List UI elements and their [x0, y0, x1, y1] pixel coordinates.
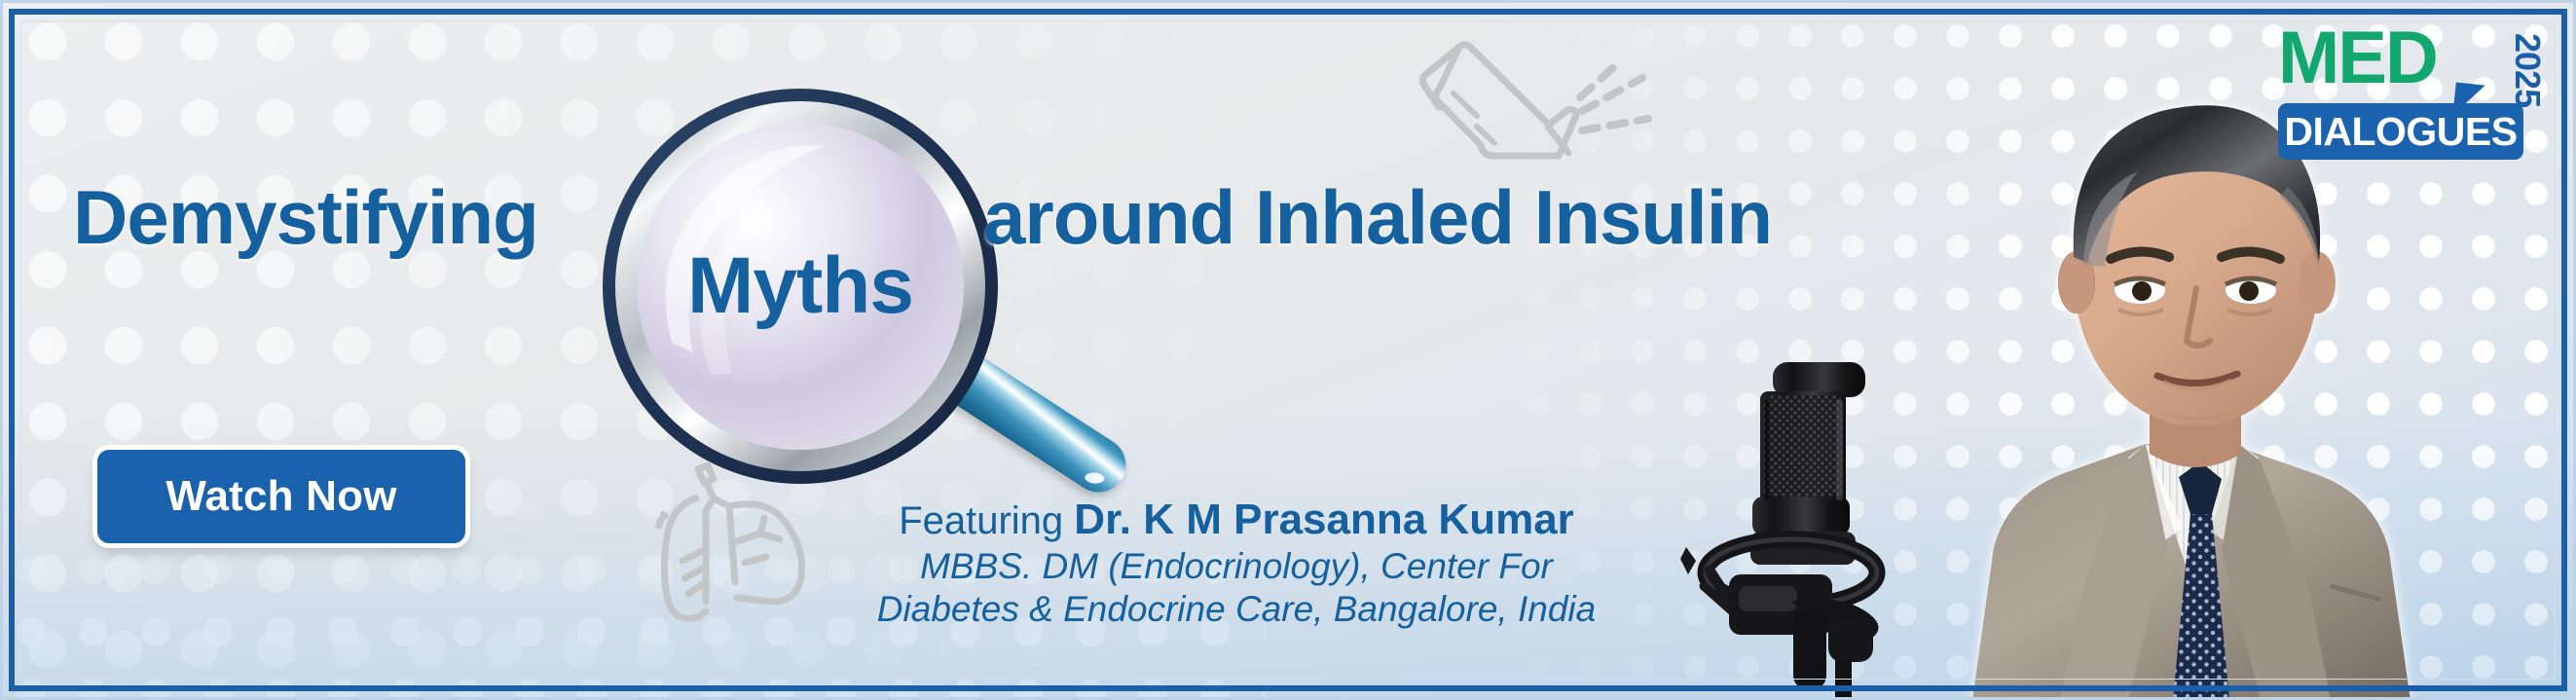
med-dialogues-banner: Myths Demystifying around Inhaled Insuli… — [0, 0, 2576, 700]
speaker-name: Dr. K M Prasanna Kumar — [1074, 496, 1574, 543]
studio-microphone-icon — [1645, 341, 1967, 700]
headline-after: around Inhaled Insulin — [983, 173, 1772, 262]
featuring-block: Featuring Dr. K M Prasanna Kumar MBBS. D… — [740, 495, 1733, 632]
featuring-line: Featuring Dr. K M Prasanna Kumar — [740, 495, 1733, 545]
featuring-label: Featuring — [899, 499, 1074, 542]
headline-lens-word: Myths — [687, 240, 913, 332]
logo-dialogues-text: DIALOGUES — [2284, 112, 2517, 152]
logo-year-text: 2025 — [2510, 33, 2545, 107]
med-dialogues-logo: MED DIALOGUES 2025 — [2278, 21, 2539, 177]
logo-dialogues-box: DIALOGUES — [2278, 103, 2523, 160]
watch-now-button[interactable]: Watch Now — [97, 450, 465, 543]
logo-med-text: MED — [2278, 21, 2437, 95]
inhaler-icon — [1387, 18, 1679, 178]
headline-before: Demystifying — [73, 173, 538, 262]
speaker-credential-line-2: Diabetes & Endocrine Care, Bangalore, In… — [740, 588, 1733, 631]
logo-speech-tail — [2452, 83, 2484, 119]
magnifier-lens-word: Myths — [596, 82, 1005, 491]
speaker-credential-line-1: MBBS. DM (Endocrinology), Center For — [740, 545, 1733, 588]
